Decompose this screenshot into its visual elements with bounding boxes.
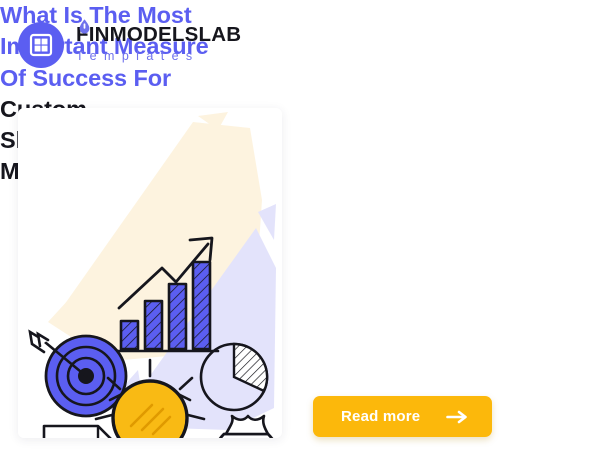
brand-name: FINMODELSLAB (76, 24, 241, 46)
read-more-button[interactable]: Read more (313, 396, 492, 437)
droplet-icon (79, 19, 90, 34)
grid-squares-icon (18, 22, 64, 68)
arrow-right-icon (446, 410, 468, 424)
brand-tagline: Templates (76, 47, 241, 66)
brand-logo[interactable]: FINMODELSLAB Templates (18, 22, 241, 68)
illustration-card: $ (18, 108, 282, 438)
promo-poster: FINMODELSLAB Templates (0, 0, 600, 464)
brand-wordmark: FINMODELSLAB Templates (76, 24, 241, 66)
gold-coin-icon (113, 381, 187, 438)
read-more-label: Read more (341, 409, 420, 424)
